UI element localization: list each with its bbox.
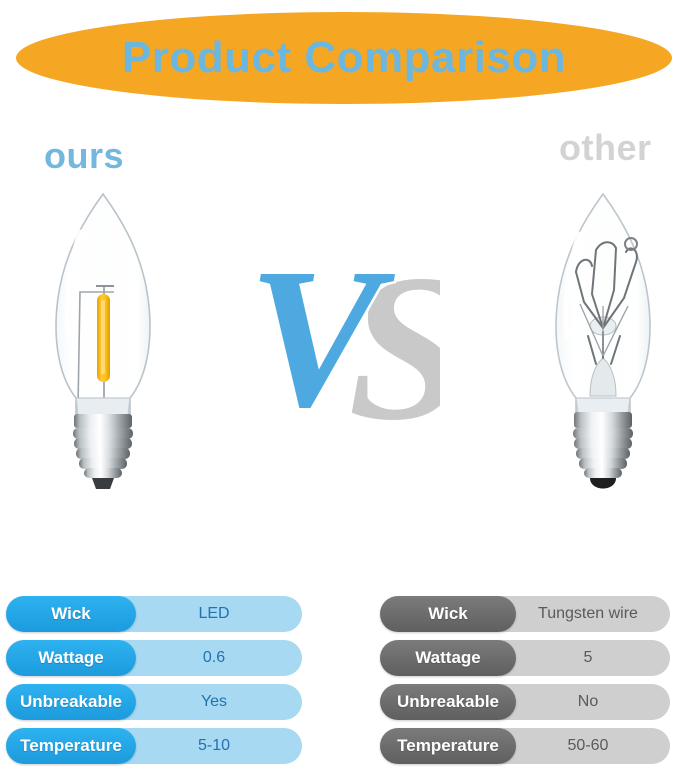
filament-glow: [101, 300, 105, 374]
table-row: LED Wick: [6, 596, 302, 632]
product-image-ours: [18, 186, 188, 496]
spec-label-temperature: Temperature: [380, 728, 516, 764]
table-row: 50-60 Temperature: [380, 728, 670, 764]
spec-table-other: Tungsten wire Wick 5 Wattage No Unbreaka…: [380, 596, 670, 764]
vs-letter-v: V: [248, 228, 395, 449]
spec-label-temperature: Temperature: [6, 728, 136, 764]
spec-label-wattage: Wattage: [380, 640, 516, 676]
spec-label-unbreakable: Unbreakable: [6, 684, 136, 720]
spec-table-ours: LED Wick 0.6 Wattage Yes Unbreakable 5-1…: [6, 596, 302, 764]
led-bulb-illustration: [18, 186, 188, 496]
table-row: Tungsten wire Wick: [380, 596, 670, 632]
table-row: 5 Wattage: [380, 640, 670, 676]
table-row: 5-10 Temperature: [6, 728, 302, 764]
base-collar: [74, 414, 132, 428]
title-banner: Product Comparison: [16, 12, 672, 104]
table-row: 0.6 Wattage: [6, 640, 302, 676]
spec-label-wick: Wick: [6, 596, 136, 632]
base-contact: [92, 478, 114, 489]
base-contact: [590, 478, 616, 489]
base-collar: [574, 412, 632, 428]
screw-threads: [73, 428, 133, 478]
label-ours: ours: [44, 138, 124, 174]
spec-label-unbreakable: Unbreakable: [380, 684, 516, 720]
spec-label-wattage: Wattage: [6, 640, 136, 676]
versus-graphic: S V: [240, 200, 440, 450]
incandescent-bulb-illustration: [518, 186, 679, 506]
page-title: Product Comparison: [122, 36, 566, 80]
table-row: No Unbreakable: [380, 684, 670, 720]
bulb-neck: [76, 398, 130, 416]
label-other: other: [559, 130, 652, 166]
product-image-other: [518, 186, 679, 506]
bulb-neck: [576, 398, 630, 414]
spec-label-wick: Wick: [380, 596, 516, 632]
screw-threads: [573, 428, 633, 478]
table-row: Yes Unbreakable: [6, 684, 302, 720]
